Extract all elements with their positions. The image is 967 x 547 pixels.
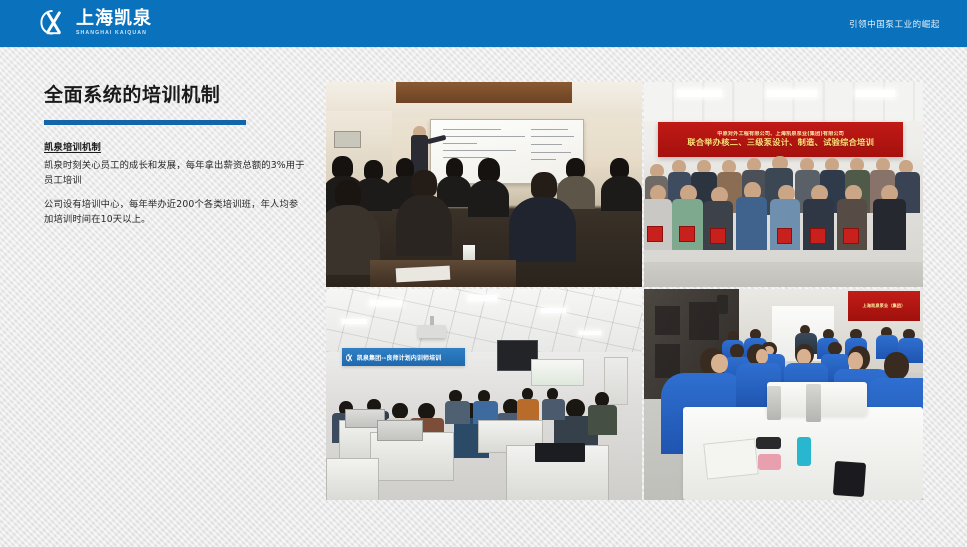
training-banner: 凯泉集团--良师计划内训师培训 bbox=[342, 348, 465, 366]
photo-group-certificate[interactable]: 中原对外工程有限公司、上海凯泉泵业(集团)有限公司 联合举办核二、三级泵设计、制… bbox=[644, 82, 923, 287]
brand-logo[interactable]: 上海凯泉 SHANGHAI KAIQUAN bbox=[38, 7, 152, 40]
window bbox=[531, 359, 584, 386]
body-paragraph-1: 凯泉时刻关心员工的成长和发展，每年拿出薪资总额的3%用于员工培训 bbox=[44, 158, 306, 188]
kaiquan-mark-icon bbox=[38, 8, 69, 39]
brand-logo-text: 上海凯泉 SHANGHAI KAIQUAN bbox=[76, 10, 152, 36]
ceiling bbox=[644, 82, 923, 121]
banner-text: 上海凯泉泵业（集团） bbox=[863, 303, 906, 309]
banner-text: 凯泉集团--良师计划内训师培训 bbox=[357, 353, 441, 362]
header-slogan: 引领中国泵工业的崛起 bbox=[849, 0, 940, 47]
ceiling-projector bbox=[418, 325, 446, 338]
slide-root: 上海凯泉 SHANGHAI KAIQUAN 引领中国泵工业的崛起 全面系统的培训… bbox=[0, 0, 967, 547]
header-bar: 上海凯泉 SHANGHAI KAIQUAN 引领中国泵工业的崛起 bbox=[0, 0, 967, 47]
brand-name-cn: 上海凯泉 bbox=[76, 10, 152, 28]
kaiquan-mark-icon bbox=[345, 348, 355, 367]
wall-banner: 上海凯泉泵业（集团） bbox=[848, 291, 921, 321]
banner-line-2: 联合举办核二、三级泵设计、制造、试验综合培训 bbox=[662, 138, 900, 148]
page-title: 全面系统的培训机制 bbox=[44, 84, 306, 113]
event-banner: 中原对外工程有限公司、上海凯泉泵业(集团)有限公司 联合举办核二、三级泵设计、制… bbox=[658, 122, 904, 157]
title-underline-rule bbox=[44, 120, 246, 125]
section-subtitle: 凯泉培训机制 bbox=[44, 139, 306, 153]
photo-workshop-discussion[interactable]: 上海凯泉泵业（集团） bbox=[644, 289, 923, 500]
paper-cup bbox=[463, 245, 475, 260]
notebook bbox=[704, 438, 760, 479]
photo-computer-classroom[interactable]: 凯泉集团--良师计划内训师培训 bbox=[326, 289, 642, 500]
wall-panel bbox=[334, 131, 361, 147]
brand-name-en: SHANGHAI KAIQUAN bbox=[76, 31, 152, 36]
floor bbox=[644, 262, 923, 287]
photo-lecture-hall[interactable]: 培训教室：讲师在白板前授课，学员背向镜头就座听课 bbox=[326, 82, 642, 287]
text-column: 全面系统的培训机制 凯泉培训机制 凯泉时刻关心员工的成长和发展，每年拿出薪资总额… bbox=[44, 84, 306, 236]
smartphone bbox=[833, 461, 866, 497]
desk-paper bbox=[395, 265, 449, 282]
photo-grid: 培训教室：讲师在白板前授课，学员背向镜头就座听课 中原对外工程有限公司、上海凯泉… bbox=[326, 82, 923, 503]
body-paragraph-2: 公司设有培训中心，每年举办近200个各类培训班，年人均参加培训时间在10天以上。 bbox=[44, 197, 306, 227]
wood-beam bbox=[396, 82, 573, 103]
